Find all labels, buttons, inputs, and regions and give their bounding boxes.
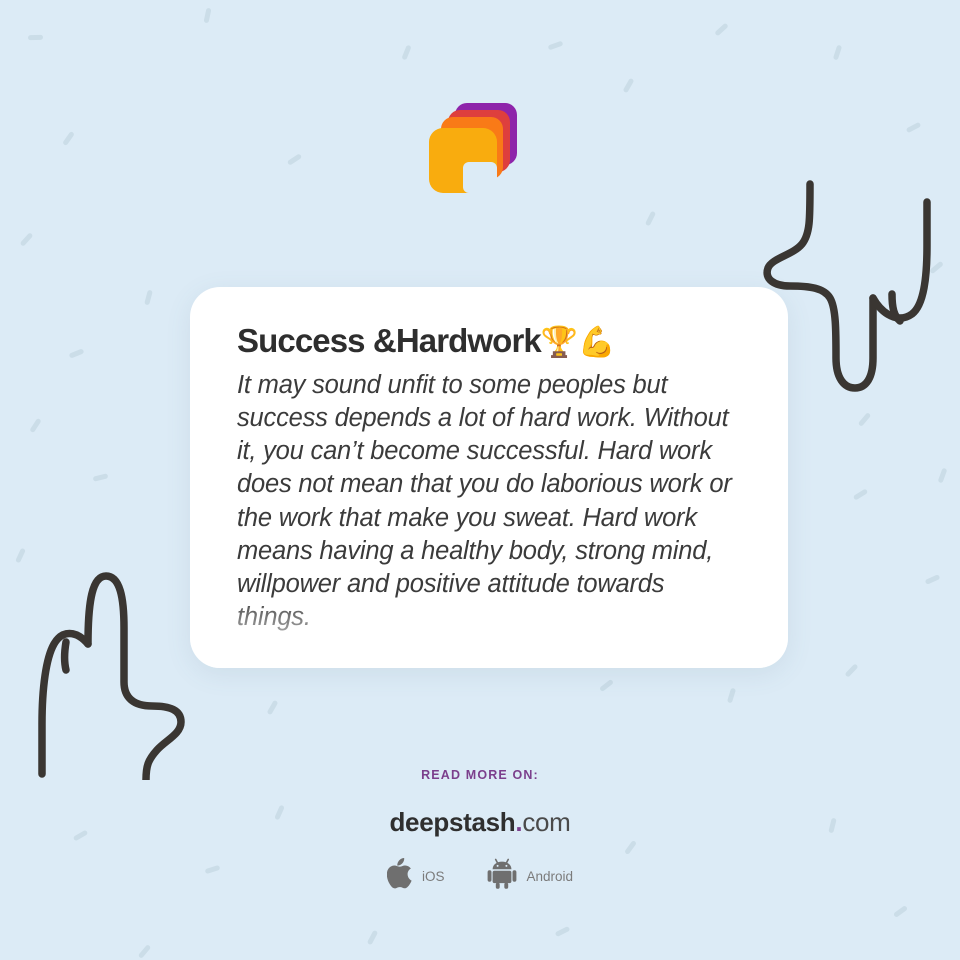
confetti-dash <box>714 23 728 37</box>
confetti-dash <box>938 468 948 484</box>
idea-title-emoji: 🏆💪 <box>541 325 616 360</box>
android-icon <box>487 858 517 894</box>
confetti-dash <box>599 679 614 692</box>
confetti-dash <box>203 8 211 24</box>
idea-card[interactable]: Success &Hardwork🏆💪 It may sound unfit t… <box>190 287 788 668</box>
confetti-dash <box>853 488 868 500</box>
confetti-dash <box>367 930 378 946</box>
idea-title-text: Success &Hardwork <box>237 322 541 359</box>
confetti-dash <box>623 78 635 93</box>
confetti-dash <box>62 131 75 146</box>
confetti-dash <box>20 232 34 246</box>
store-badges: iOS <box>0 858 960 894</box>
logo-layer-amber <box>429 128 497 193</box>
store-badge-android[interactable]: Android <box>487 858 573 894</box>
confetti-dash <box>15 548 26 564</box>
footer: READ MORE ON: deepstash.com iOS <box>0 768 960 894</box>
confetti-dash <box>727 688 736 704</box>
confetti-dash <box>555 926 571 937</box>
idea-card-content: Success &Hardwork🏆💪 It may sound unfit t… <box>190 287 788 635</box>
brand-name: deepstash <box>389 807 515 837</box>
deepstash-logo[interactable] <box>429 103 517 193</box>
hand-pointing-up-icon <box>24 558 200 785</box>
apple-icon <box>387 858 413 894</box>
confetti-dash <box>645 211 656 227</box>
logo-cutout <box>463 162 497 193</box>
brand-tld: com <box>522 807 570 837</box>
confetti-dash <box>925 574 941 585</box>
confetti-dash <box>893 905 908 918</box>
confetti-dash <box>93 473 109 481</box>
store-label-ios: iOS <box>422 869 445 884</box>
confetti-dash <box>401 45 411 61</box>
poster-canvas: Success &Hardwork🏆💪 It may sound unfit t… <box>0 0 960 960</box>
confetti-dash <box>858 412 871 427</box>
confetti-dash <box>138 944 151 959</box>
idea-title: Success &Hardwork🏆💪 <box>237 322 744 361</box>
idea-body-text: It may sound unfit to some peoples but s… <box>237 369 744 635</box>
store-badge-ios[interactable]: iOS <box>387 858 445 894</box>
confetti-dash <box>267 700 279 715</box>
confetti-dash <box>28 35 43 41</box>
confetti-dash <box>906 122 922 133</box>
confetti-dash <box>548 41 564 51</box>
confetti-dash <box>833 45 842 61</box>
confetti-dash <box>844 663 858 677</box>
confetti-dash <box>929 261 944 274</box>
confetti-dash <box>144 290 153 306</box>
confetti-dash <box>69 348 85 358</box>
read-more-label: READ MORE ON: <box>0 768 960 782</box>
brand-wordmark[interactable]: deepstash.com <box>0 809 960 835</box>
confetti-dash <box>29 418 41 433</box>
confetti-dash <box>287 153 302 165</box>
store-label-android: Android <box>526 869 573 884</box>
